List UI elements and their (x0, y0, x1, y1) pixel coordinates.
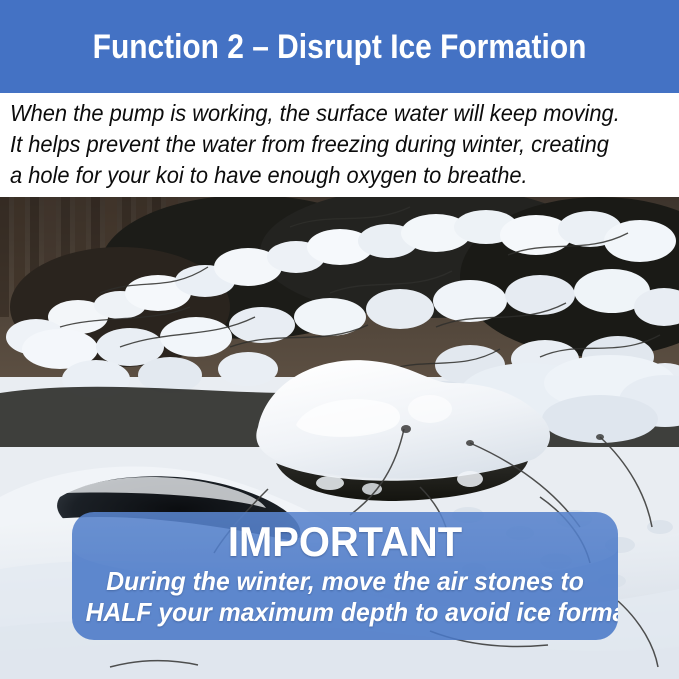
callout-title: IMPORTANT (86, 518, 605, 566)
callout-line-1: During the winter, move the air stones t… (86, 566, 605, 597)
page-title: Function 2 – Disrupt Ice Formation (93, 30, 587, 64)
intro-paragraph: When the pump is working, the surface wa… (10, 98, 625, 191)
infographic-card: Function 2 – Disrupt Ice Formation When … (0, 0, 679, 679)
important-callout: IMPORTANT During the winter, move the ai… (72, 512, 618, 640)
callout-line-2: HALF your maximum depth to avoid ice for… (86, 597, 605, 628)
intro-band: When the pump is working, the surface wa… (0, 93, 679, 197)
header-band: Function 2 – Disrupt Ice Formation (0, 0, 679, 93)
